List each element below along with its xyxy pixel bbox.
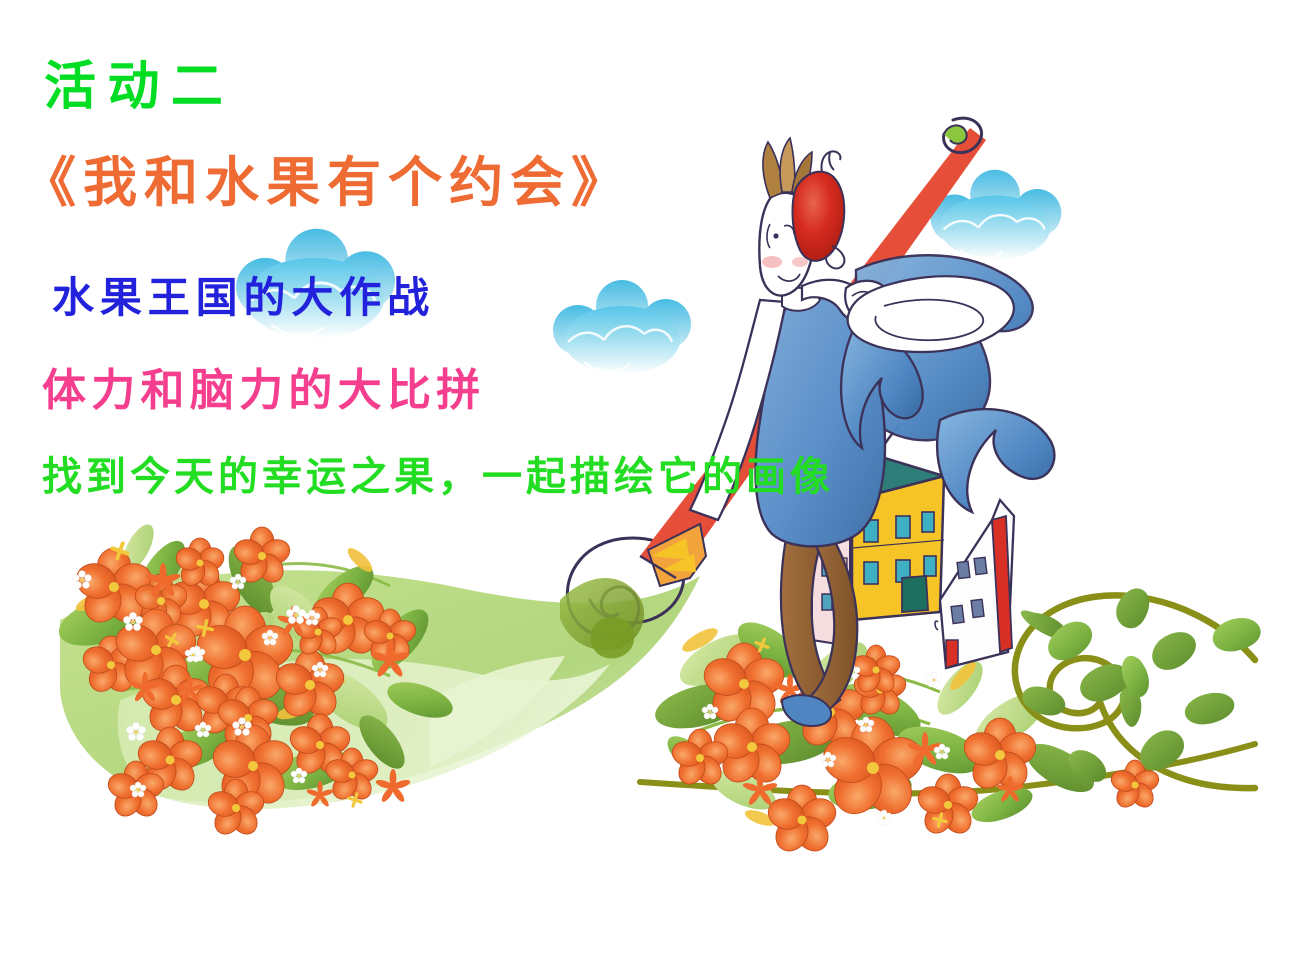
bullet-line-3: 找到今天的幸运之果，一起描绘它的画像: [42, 444, 834, 502]
cloud-middle: [553, 280, 691, 374]
slide-canvas: 活动二 《我和水果有个约会》 水果王国的大作战 体力和脑力的大比拼 找到今天的幸…: [0, 0, 1299, 974]
activity-title: 活动二: [44, 44, 234, 119]
bullet-line-1: 水果王国的大作战: [52, 264, 435, 325]
theme-title: 《我和水果有个约会》: [22, 138, 632, 217]
bullet-line-2: 体力和脑力的大比拼: [42, 354, 486, 418]
white-red-house: [935, 500, 1014, 668]
